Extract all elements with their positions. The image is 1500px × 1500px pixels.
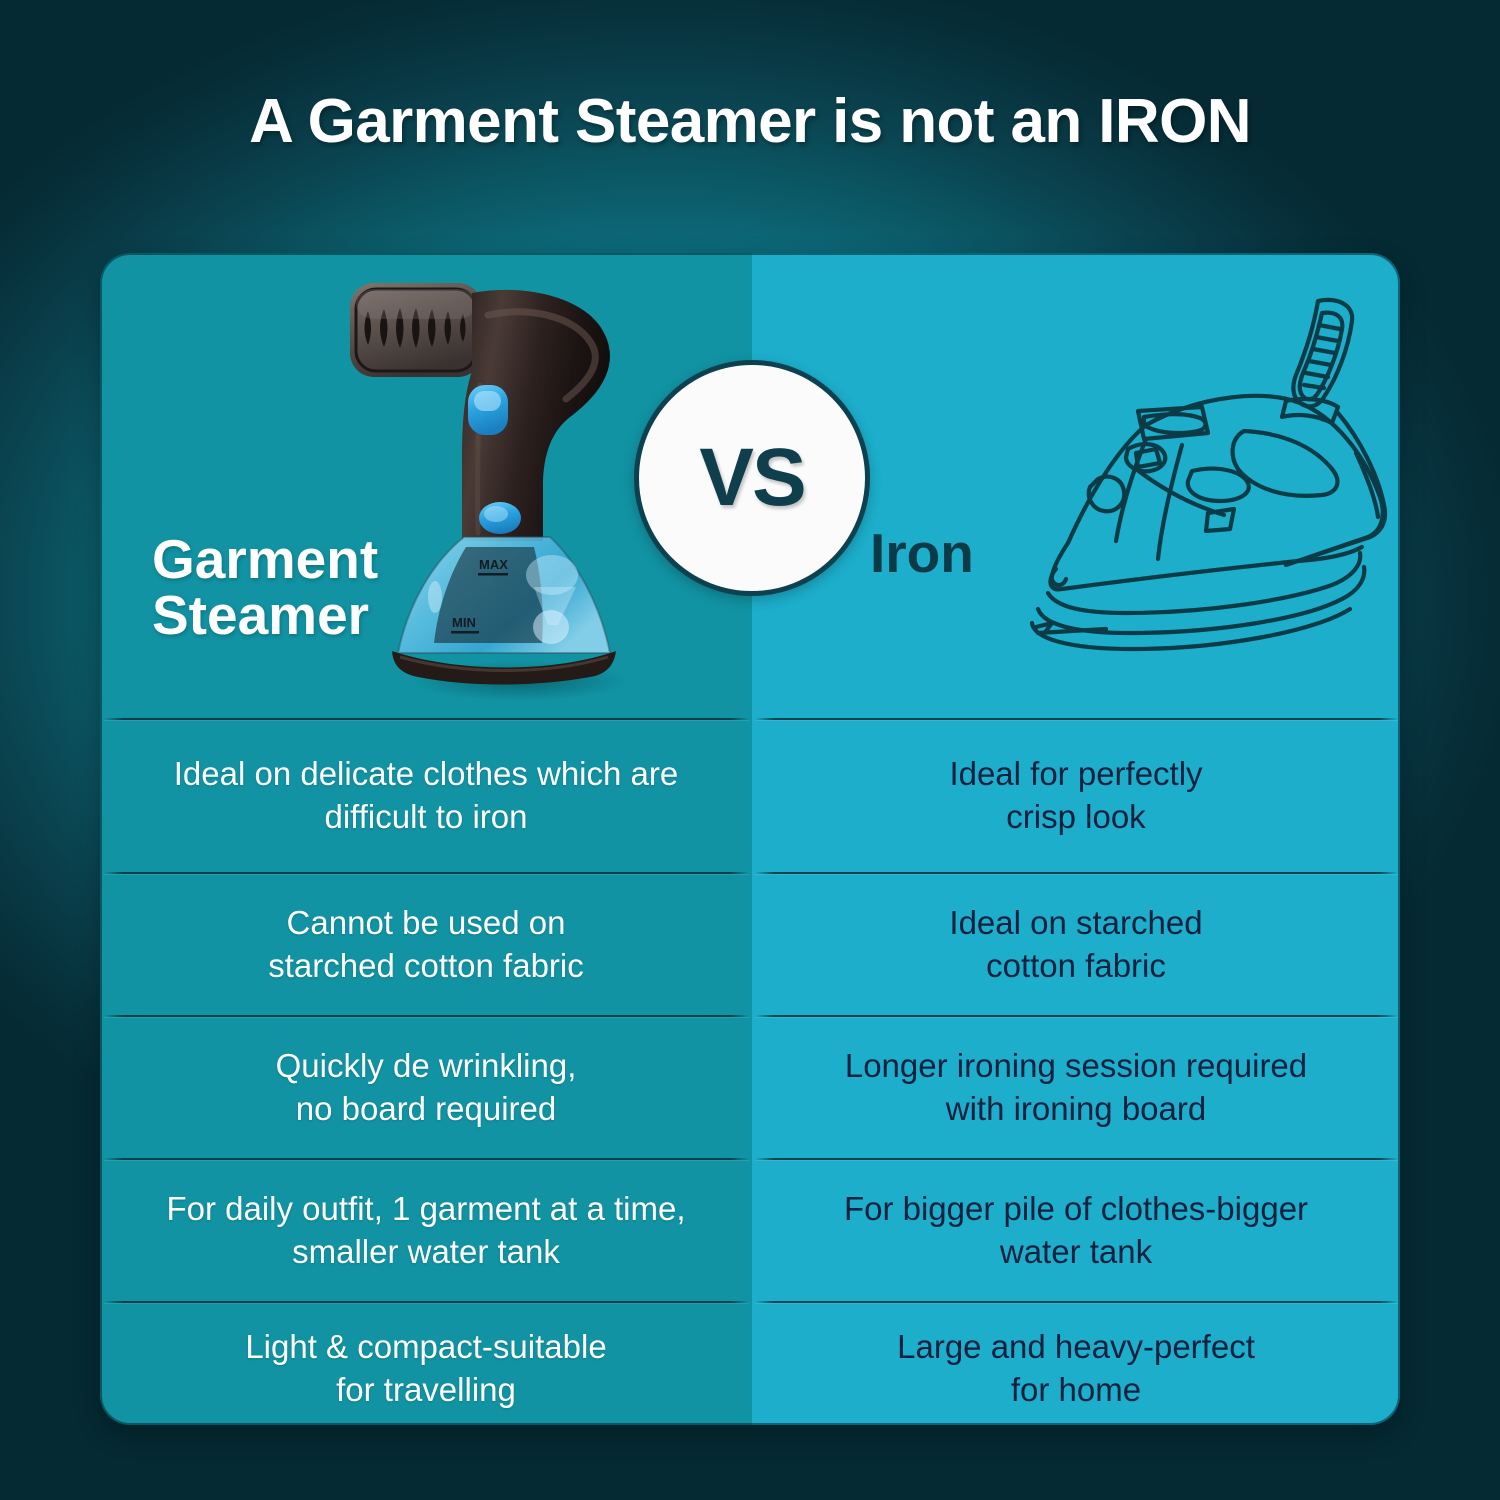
infographic-canvas: A Garment Steamer is not an IRON — [0, 0, 1500, 1500]
row-divider — [104, 1158, 749, 1160]
feature-item: Ideal for perfectly crisp look — [752, 720, 1400, 872]
row-divider — [104, 718, 749, 720]
steamer-feature-list: Ideal on delicate clothes which are diff… — [100, 718, 752, 1425]
feature-item: Light & compact-suitable for travelling — [100, 1303, 752, 1425]
feature-item: Longer ironing session required with iro… — [752, 1017, 1400, 1158]
row-divider — [104, 872, 749, 874]
svg-text:MIN: MIN — [452, 615, 476, 630]
feature-item: Ideal on delicate clothes which are diff… — [100, 720, 752, 872]
feature-item: For bigger pile of clothes-bigger water … — [752, 1160, 1400, 1301]
clothes-iron-icon — [986, 273, 1400, 673]
vs-badge-label: VS — [699, 431, 804, 525]
feature-item: Ideal on starched cotton fabric — [752, 874, 1400, 1015]
page-title: A Garment Steamer is not an IRON — [0, 86, 1500, 157]
row-divider — [755, 718, 1398, 720]
row-divider — [755, 1301, 1398, 1303]
vs-badge: VS — [634, 360, 870, 596]
feature-item: Quickly de wrinkling, no board required — [100, 1017, 752, 1158]
svg-text:MAX: MAX — [479, 557, 508, 572]
row-divider — [755, 872, 1398, 874]
feature-item: For daily outfit, 1 garment at a time, s… — [100, 1160, 752, 1301]
row-divider — [755, 1015, 1398, 1017]
feature-item: Cannot be used on starched cotton fabric — [100, 874, 752, 1015]
row-divider — [104, 1015, 749, 1017]
row-divider — [104, 1301, 749, 1303]
garment-steamer-icon: MAX MIN — [338, 275, 668, 705]
iron-product-label: Iron — [870, 525, 974, 581]
iron-feature-list: Ideal for perfectly crisp look Ideal on … — [752, 718, 1400, 1425]
feature-item: Large and heavy-perfect for home — [752, 1303, 1400, 1425]
row-divider — [755, 1158, 1398, 1160]
